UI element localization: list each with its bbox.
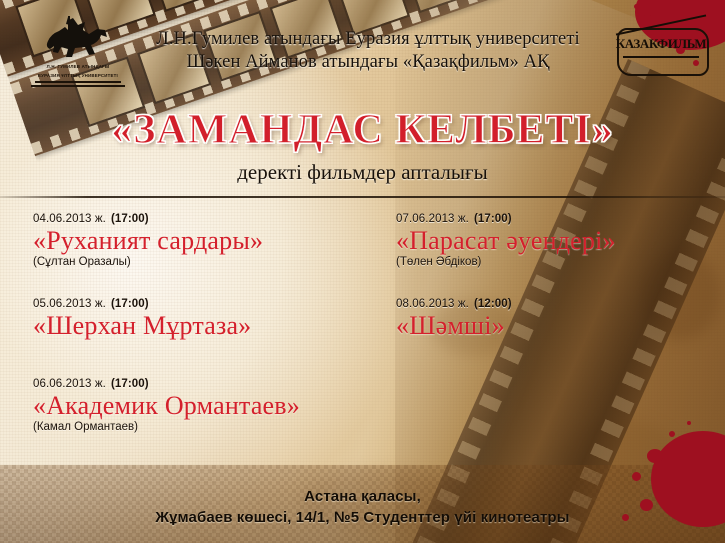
header-line-studio: Шәкен Айманов атындағы «Қазақфильм» АҚ bbox=[108, 51, 628, 74]
venue-address: Жұмабаев көшесі, 14/1, №5 Студенттер үйі… bbox=[0, 507, 725, 529]
schedule-entry: 08.06.2013 ж.(12:00) «Шәмші» bbox=[396, 298, 716, 340]
university-logo-rule bbox=[35, 81, 121, 83]
schedule-film-author: (Сұлтан Оразалы) bbox=[33, 256, 393, 268]
header-line-university: Л.Н.Гумилев атындағы Еуразия ұлттық унив… bbox=[108, 28, 628, 51]
schedule-time: (17:00) bbox=[474, 213, 512, 225]
schedule-film-title: «Шерхан Мұртаза» bbox=[33, 311, 393, 340]
horse-rider-icon bbox=[39, 16, 117, 62]
spacer bbox=[33, 350, 393, 378]
schedule-date: 07.06.2013 ж. bbox=[396, 213, 469, 225]
schedule-when: 04.06.2013 ж.(17:00) bbox=[33, 213, 393, 225]
venue-footer: Астана қаласы, Жұмабаев көшесі, 14/1, №5… bbox=[0, 486, 725, 530]
schedule-film-title: «Парасат әуендері» bbox=[396, 226, 716, 255]
schedule-entry: 07.06.2013 ж.(17:00) «Парасат әуендері» … bbox=[396, 213, 716, 268]
schedule-when: 08.06.2013 ж.(12:00) bbox=[396, 298, 716, 310]
schedule-film-title: «Шәмші» bbox=[396, 311, 716, 340]
schedule-entry: 05.06.2013 ж.(17:00) «Шерхан Мұртаза» bbox=[33, 298, 393, 340]
header-organizers: Л.Н.Гумилев атындағы Еуразия ұлттық унив… bbox=[108, 28, 628, 73]
schedule-when: 06.06.2013 ж.(17:00) bbox=[33, 378, 393, 390]
university-logo-rule bbox=[31, 85, 125, 87]
schedule-when: 07.06.2013 ж.(17:00) bbox=[396, 213, 716, 225]
university-logo-caption-2: ЕУРАЗИЯ ҰЛТТЫҚ УНИВЕРСИТЕТІ bbox=[30, 73, 126, 80]
schedule-entry: 06.06.2013 ж.(17:00) «Академик Ормантаев… bbox=[33, 378, 393, 433]
schedule-film-author: (Төлен Әбдіков) bbox=[396, 256, 716, 268]
schedule-date: 08.06.2013 ж. bbox=[396, 298, 469, 310]
schedule-film-title: «Руханият сардары» bbox=[33, 226, 393, 255]
schedule-time: (17:00) bbox=[111, 378, 149, 390]
schedule-entry: 04.06.2013 ж.(17:00) «Руханият сардары» … bbox=[33, 213, 393, 268]
schedule-date: 05.06.2013 ж. bbox=[33, 298, 106, 310]
title-divider bbox=[0, 196, 725, 198]
schedule-date: 04.06.2013 ж. bbox=[33, 213, 106, 225]
venue-city: Астана қаласы, bbox=[0, 486, 725, 508]
schedule-time: (12:00) bbox=[474, 298, 512, 310]
poster-subtitle: деректі фильмдер апталығы bbox=[0, 160, 725, 185]
kazakhfilm-logo: КАЗАКФИЛЬМ bbox=[613, 18, 709, 78]
schedule-film-author: (Камал Ормантаев) bbox=[33, 421, 393, 433]
schedule-column-right: 07.06.2013 ж.(17:00) «Парасат әуендері» … bbox=[396, 213, 716, 350]
schedule-column-left: 04.06.2013 ж.(17:00) «Руханият сардары» … bbox=[33, 213, 393, 443]
poster-canvas: Л.Н. ГУМИЛЕВ АТЫНДАҒЫ ЕУРАЗИЯ ҰЛТТЫҚ УНИ… bbox=[0, 0, 725, 543]
poster-title: «ЗАМАНДАС КЕЛБЕТІ» bbox=[0, 106, 725, 154]
spacer bbox=[396, 278, 716, 298]
spacer bbox=[33, 278, 393, 298]
kazakhfilm-logo-underline bbox=[623, 56, 699, 58]
schedule-film-title: «Академик Ормантаев» bbox=[33, 391, 393, 420]
schedule-date: 06.06.2013 ж. bbox=[33, 378, 106, 390]
schedule-time: (17:00) bbox=[111, 298, 149, 310]
schedule-time: (17:00) bbox=[111, 213, 149, 225]
kazakhfilm-logo-text: КАЗАКФИЛЬМ bbox=[613, 36, 709, 52]
schedule-when: 05.06.2013 ж.(17:00) bbox=[33, 298, 393, 310]
